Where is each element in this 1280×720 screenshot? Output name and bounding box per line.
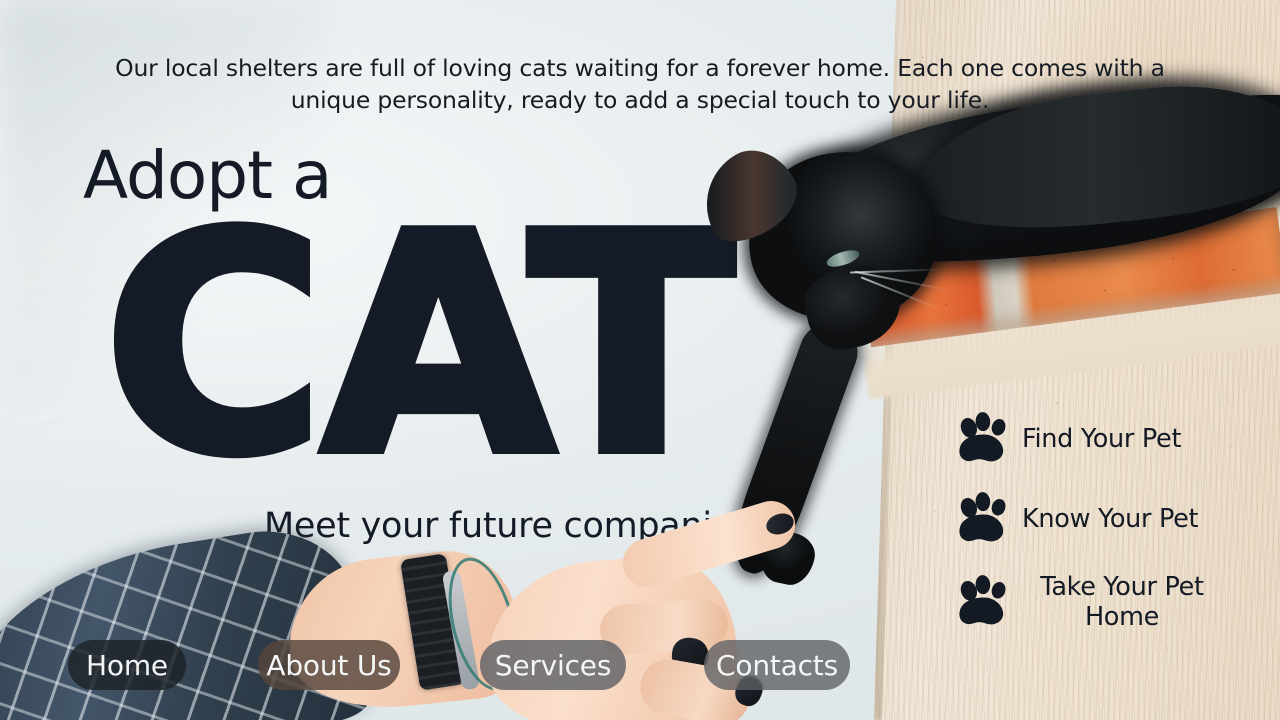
hero-description: Our local shelters are full of loving ca… (90, 52, 1190, 116)
nav-item-about-us[interactable]: About Us (258, 640, 400, 690)
feature-item-take-your-pet-home[interactable]: Take Your Pet Home (956, 572, 1246, 632)
paw-print-icon (956, 575, 1012, 629)
hero-slide: Adopt a CAT Meet your future companion O (0, 0, 1280, 720)
main-navigation: Home About Us Services Contacts (0, 640, 1280, 720)
feature-item-know-your-pet[interactable]: Know Your Pet (956, 492, 1246, 546)
nav-item-contacts[interactable]: Contacts (704, 640, 850, 690)
nav-item-services[interactable]: Services (480, 640, 626, 690)
paw-print-icon (956, 492, 1012, 546)
feature-item-find-your-pet[interactable]: Find Your Pet (956, 412, 1246, 466)
feature-label: Find Your Pet (1022, 424, 1181, 454)
feature-list: Find Your Pet Know Your Pet Take Your Pe… (956, 412, 1246, 632)
nav-item-home[interactable]: Home (68, 640, 186, 690)
page-title: CAT (104, 214, 732, 478)
feature-label: Take Your Pet Home (1022, 572, 1222, 632)
feature-label: Know Your Pet (1022, 504, 1198, 534)
paw-print-icon (956, 412, 1012, 466)
